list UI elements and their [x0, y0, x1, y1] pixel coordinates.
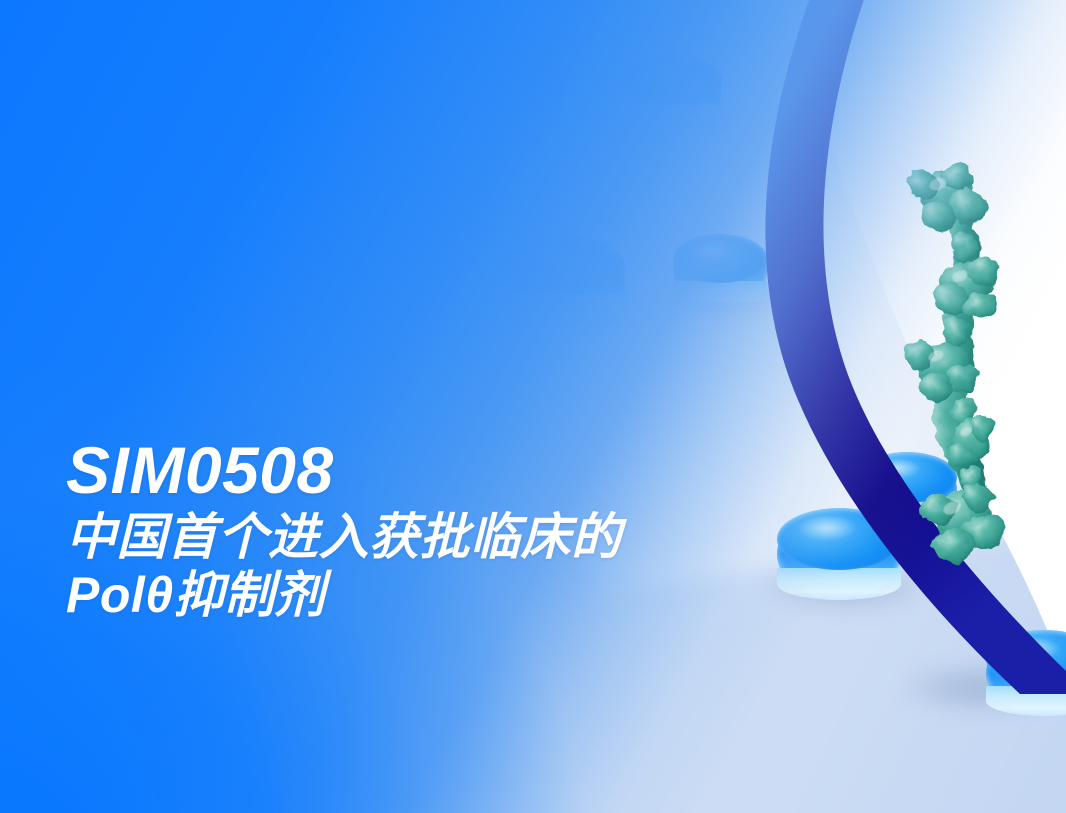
product-name-headline: SIM0508	[66, 437, 826, 503]
tablet-7	[986, 630, 1066, 716]
tablet-4-rim	[673, 281, 767, 306]
tablet-3	[508, 237, 625, 323]
headline-block: SIM0508 中国首个进入获批临床的 Polθ抑制剂	[66, 437, 826, 623]
tablet-2	[626, 55, 722, 128]
sim0508-promo-banner: SIM0508 中国首个进入获批临床的 Polθ抑制剂	[0, 0, 1066, 813]
tablet-5-face	[857, 452, 957, 503]
tablet-4	[673, 234, 767, 306]
subtitle-line-1: 中国首个进入获批临床的	[66, 509, 826, 565]
tablet-1-rim	[455, 111, 565, 138]
tablet-3-face	[508, 237, 625, 295]
tablet-1	[455, 58, 565, 138]
tablet-2-rim	[626, 103, 722, 128]
tablet-2-face	[626, 55, 722, 105]
tablet-3-rim	[508, 293, 625, 323]
tablet-4-face	[673, 234, 767, 283]
subtitle-line-2: Polθ抑制剂	[66, 567, 826, 623]
tablet-1-face	[455, 58, 565, 113]
